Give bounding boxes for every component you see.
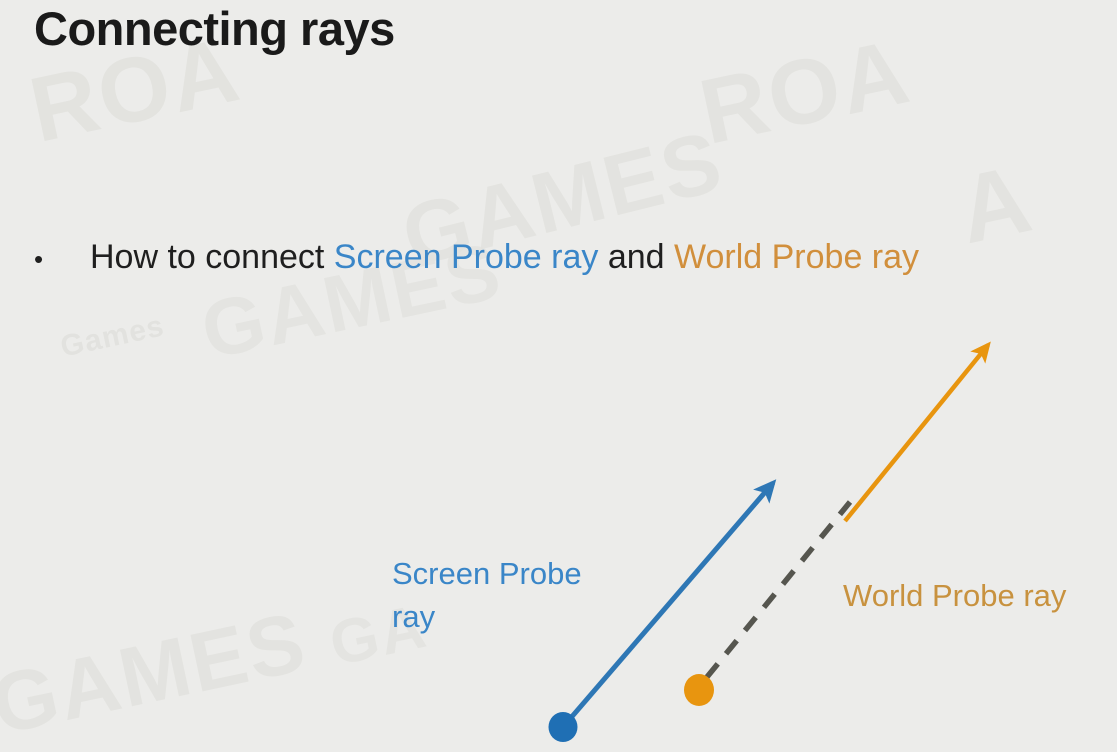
connecting-dashed-line — [707, 502, 850, 677]
world-probe-origin-dot — [684, 674, 714, 706]
world-probe-ray-arrow — [845, 345, 988, 521]
world-probe-ray-label: World Probe ray — [843, 575, 1066, 618]
ray-diagram — [0, 0, 1117, 752]
screen-probe-origin-dot — [549, 712, 578, 742]
screen-probe-ray-label: Screen Probe ray — [392, 553, 632, 639]
slide-canvas: ROA GAMES ROA GAMES A GAMES Games GA Con… — [0, 0, 1117, 752]
